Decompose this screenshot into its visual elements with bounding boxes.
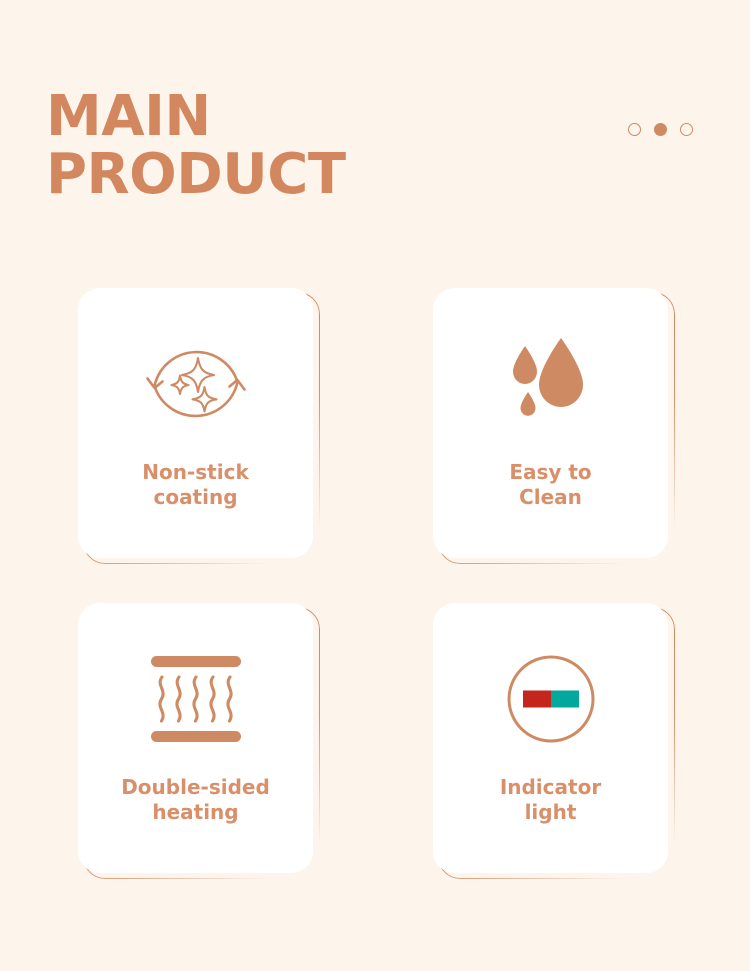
page-title: MAIN PRODUCT [46, 88, 606, 204]
feature-card-grid: Non-stick coating Easy to Clean [78, 288, 668, 873]
feature-card-easy-to-clean[interactable]: Easy to Clean [433, 288, 668, 558]
carousel-dot-1[interactable] [628, 123, 641, 136]
feature-card-label: Easy to Clean [509, 460, 591, 510]
carousel-dot-2-active[interactable] [654, 123, 667, 136]
carousel-dots[interactable] [628, 123, 693, 136]
feature-card-label: Indicator light [500, 775, 601, 825]
double-sided-heating-icon [142, 645, 250, 753]
feature-card-body: Non-stick coating [78, 288, 313, 558]
indicator-red-block [523, 691, 551, 708]
product-features-page: MAIN PRODUCT [0, 0, 750, 971]
feature-card-indicator-light[interactable]: Indicator light [433, 603, 668, 873]
feature-card-body: Double-sided heating [78, 603, 313, 873]
feature-card-label: Non-stick coating [142, 460, 249, 510]
indicator-light-icon [497, 645, 605, 753]
feature-card-label: Double-sided heating [121, 775, 270, 825]
page-header: MAIN PRODUCT [46, 88, 606, 204]
indicator-teal-block [551, 691, 579, 708]
feature-card-body: Indicator light [433, 603, 668, 873]
feature-card-non-stick[interactable]: Non-stick coating [78, 288, 313, 558]
feature-card-double-sided-heating[interactable]: Double-sided heating [78, 603, 313, 873]
feature-card-body: Easy to Clean [433, 288, 668, 558]
water-droplets-icon [497, 330, 605, 438]
carousel-dot-3[interactable] [680, 123, 693, 136]
non-stick-sparkle-refresh-icon [142, 330, 250, 438]
